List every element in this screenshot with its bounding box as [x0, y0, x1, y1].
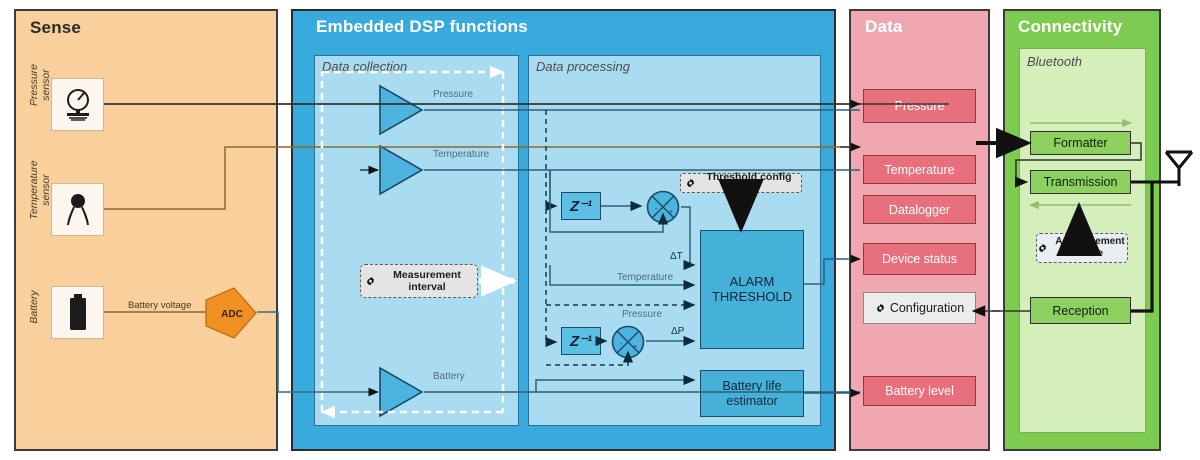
sensor-label-pressure: Pressure sensor [28, 50, 48, 120]
data-item-device-status[interactable]: Device status [863, 243, 976, 275]
panel-connectivity-title: Connectivity [1018, 17, 1122, 37]
sensor-box-pressure[interactable] [51, 78, 104, 131]
sensor-label-temperature: Temperature sensor [28, 150, 48, 230]
panel-dsp-title: Embedded DSP functions [316, 17, 528, 37]
config-threshold[interactable]: Threshold config x4 [680, 173, 802, 193]
block-battery-life-estimator[interactable]: Battery life estimator [700, 370, 804, 417]
panel-data-title: Data [865, 17, 903, 37]
delay-block-temperature[interactable]: Z⁻¹ [561, 192, 601, 220]
block-reception[interactable]: Reception [1030, 297, 1131, 324]
signal-label-delta-p: ΔP [671, 326, 684, 337]
adc-label: ADC [221, 309, 243, 320]
signal-label-delta-t: ΔT [670, 251, 683, 262]
signal-label-temperature-proc: Temperature [617, 272, 673, 283]
config-measurement-interval[interactable]: Measurement interval [360, 264, 478, 298]
battery-icon [66, 293, 90, 333]
amplifier-pressure[interactable] [378, 84, 424, 141]
data-item-datalogger[interactable]: Datalogger [863, 195, 976, 224]
delay-block-pressure[interactable]: Z⁻¹ [561, 327, 601, 355]
summing-junction-pressure[interactable]: - + [611, 325, 645, 364]
sensor-label-battery: Battery [28, 277, 48, 337]
antenna-icon [1162, 148, 1196, 195]
summing-junction-temperature[interactable]: - + [646, 190, 680, 229]
subpanel-data-processing-title: Data processing [536, 59, 630, 74]
signal-label-battery-collect: Battery [433, 371, 465, 382]
block-alarm-threshold[interactable]: ALARM THRESHOLD [700, 230, 804, 349]
wire-label-battery-voltage: Battery voltage [128, 300, 191, 311]
pressure-gauge-icon [60, 88, 96, 122]
data-item-configuration-label: Configuration [890, 301, 964, 315]
subpanel-data-collection-title: Data collection [322, 59, 407, 74]
adc-block[interactable]: ADC [204, 287, 258, 344]
sensor-box-temperature[interactable] [51, 183, 104, 236]
config-threshold-label: Threshold config x4 [701, 171, 797, 195]
amplifier-battery[interactable] [378, 366, 424, 423]
block-transmission[interactable]: Transmission [1030, 170, 1131, 194]
signal-label-pressure-proc: Pressure [622, 309, 662, 320]
gear-icon [875, 303, 886, 314]
config-measurement-interval-label: Measurement interval [381, 269, 473, 293]
gear-icon [685, 178, 696, 189]
data-item-pressure[interactable]: Pressure [863, 89, 976, 123]
data-item-configuration[interactable]: Configuration [863, 292, 976, 324]
data-item-battery-level[interactable]: Battery level [863, 376, 976, 406]
thermistor-icon [63, 190, 93, 230]
config-advertisement-mode-label: Advertisement Mode [1053, 236, 1127, 260]
svg-text:+: + [669, 209, 673, 216]
diagram-canvas: Sense Pressure sensor Temperature sensor… [0, 0, 1200, 460]
signal-label-temperature-collect: Temperature [433, 149, 489, 160]
subpanel-bluetooth-title: Bluetooth [1027, 54, 1082, 69]
svg-text:+: + [633, 344, 637, 351]
gear-icon [1037, 243, 1048, 254]
sensor-box-battery[interactable] [51, 286, 104, 339]
data-item-temperature[interactable]: Temperature [863, 155, 976, 184]
block-formatter[interactable]: Formatter [1030, 131, 1131, 155]
config-advertisement-mode[interactable]: Advertisement Mode [1036, 233, 1128, 263]
signal-label-pressure-collect: Pressure [433, 89, 473, 100]
gear-icon [365, 276, 376, 287]
amplifier-temperature[interactable] [378, 144, 424, 201]
panel-sense-title: Sense [30, 18, 81, 38]
